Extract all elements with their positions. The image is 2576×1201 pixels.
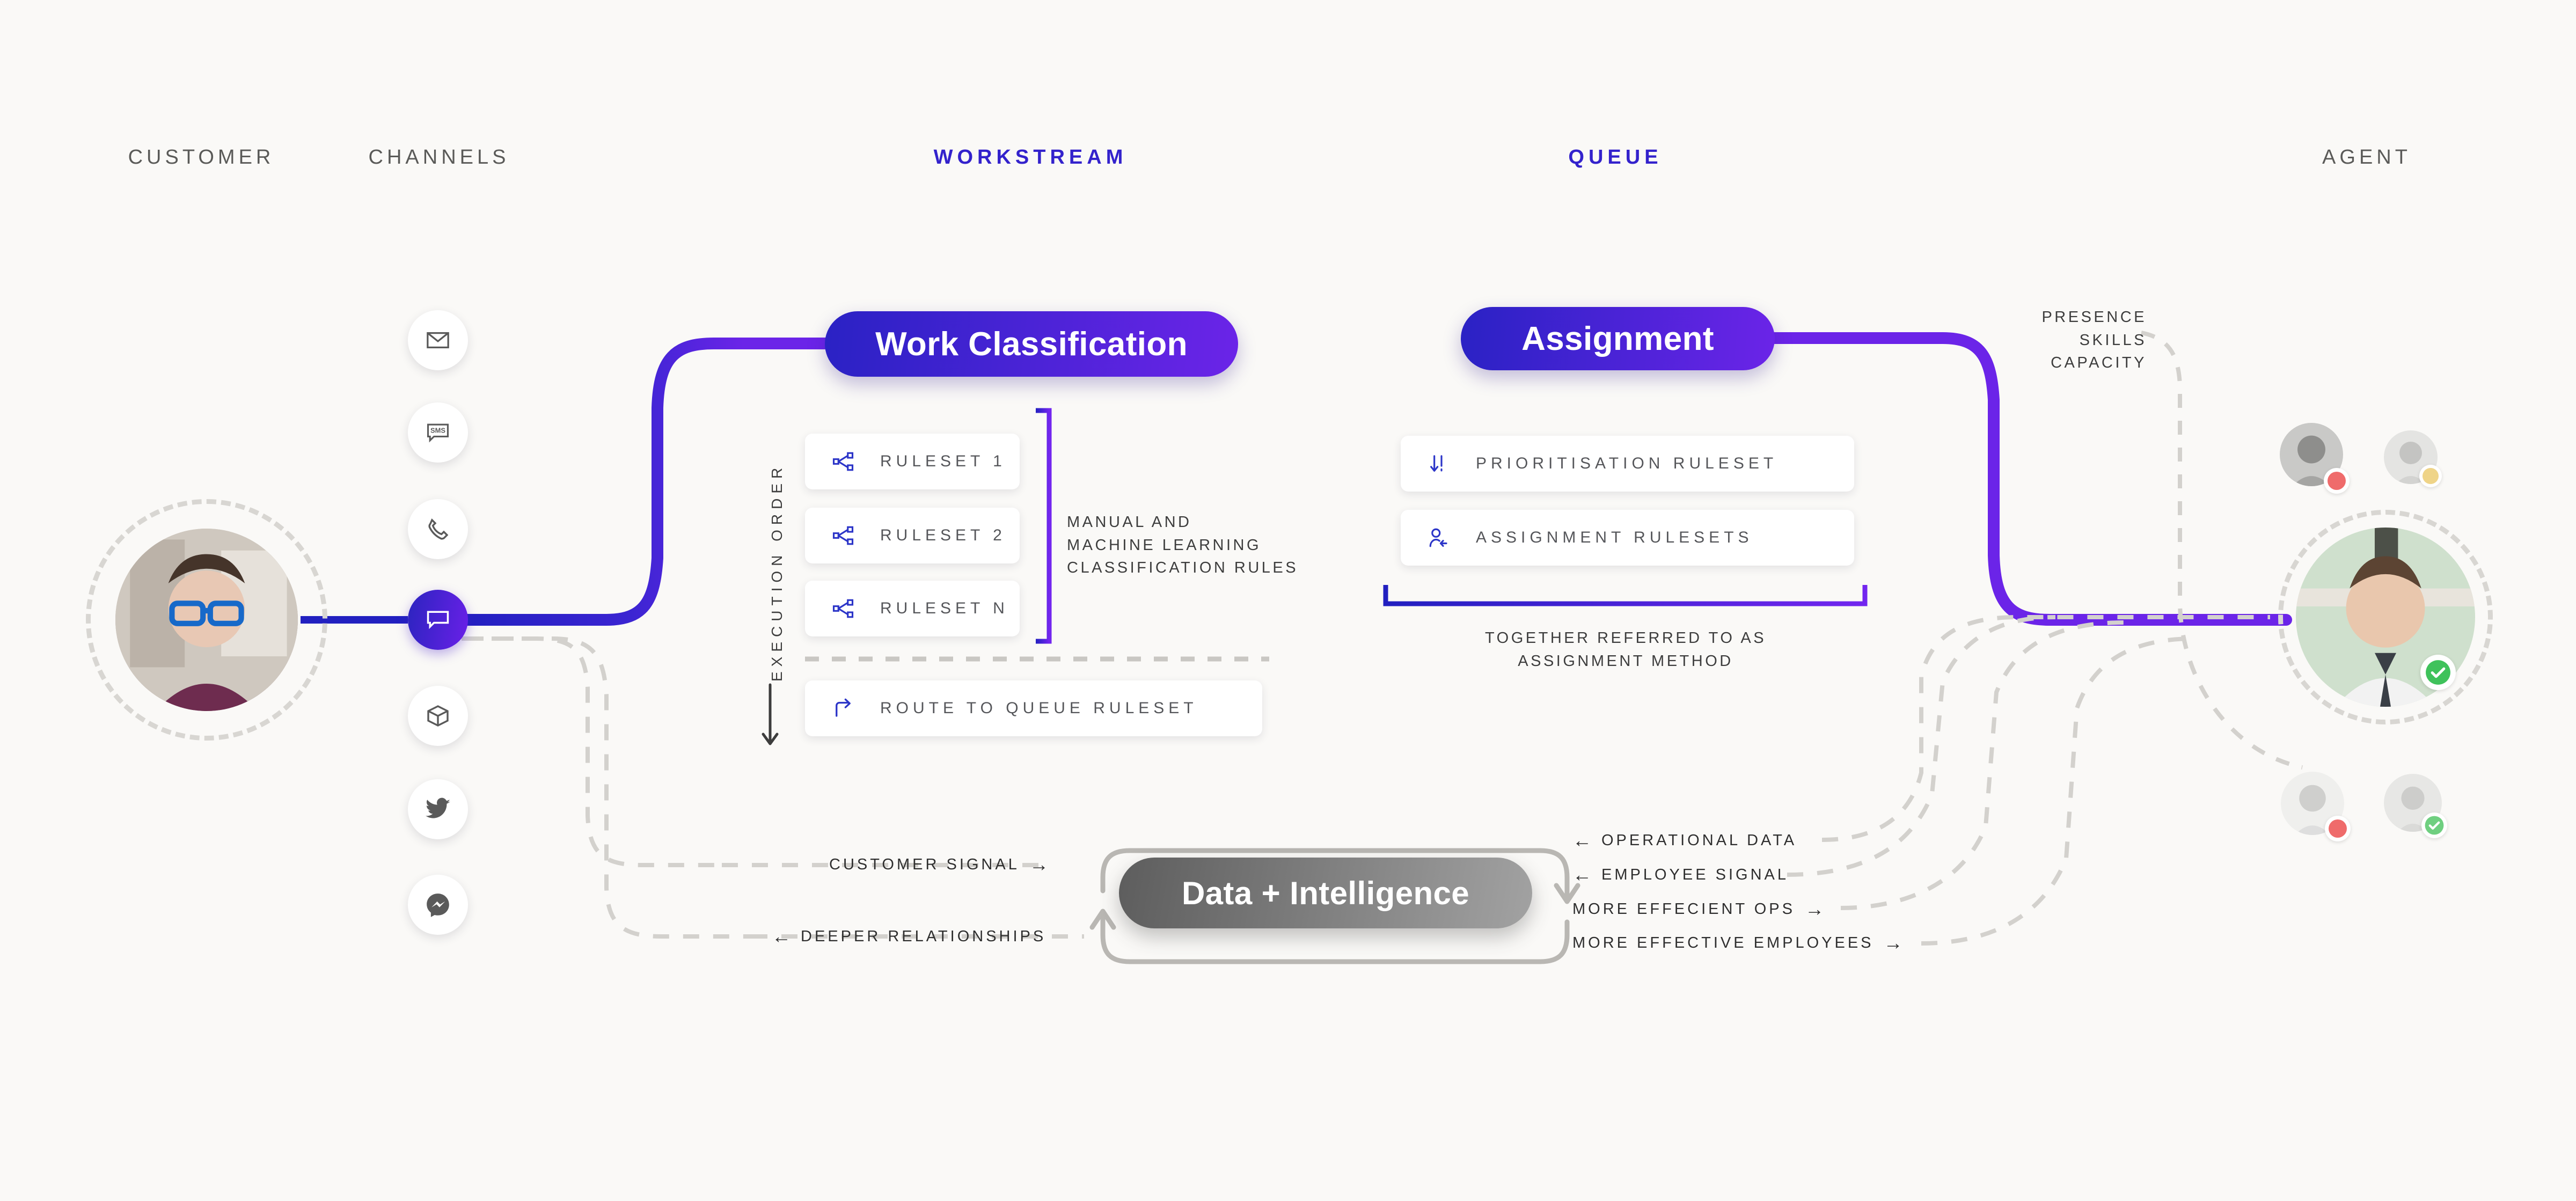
stage-pill-data-intelligence[interactable]: Data + Intelligence bbox=[1119, 858, 1532, 928]
arrow-left-icon: ← bbox=[1572, 831, 1592, 850]
route-to-queue-ruleset-card[interactable]: ROUTE TO QUEUE RULESET bbox=[805, 680, 1262, 736]
status-dot-busy bbox=[2329, 819, 2347, 838]
feedback-operational-data: ← OPERATIONAL DATA bbox=[1572, 831, 1797, 850]
column-header-workstream: WORKSTREAM bbox=[934, 146, 1128, 169]
arrow-right-icon: → bbox=[1029, 855, 1049, 874]
feedback-operational-data-label: OPERATIONAL DATA bbox=[1601, 832, 1797, 850]
channel-email[interactable] bbox=[408, 310, 468, 370]
feedback-employee-signal-label: EMPLOYEE SIGNAL bbox=[1601, 866, 1789, 884]
column-header-queue: QUEUE bbox=[1568, 146, 1662, 169]
channel-sms[interactable]: SMS bbox=[408, 402, 468, 463]
column-header-customer: CUSTOMER bbox=[128, 146, 275, 169]
agent-avatar-bottom-left-status-badge bbox=[2325, 816, 2351, 841]
check-circle-icon bbox=[2424, 815, 2445, 836]
package-icon bbox=[425, 703, 451, 729]
prioritisation-ruleset-label: PRIORITISATION RULESET bbox=[1476, 455, 1777, 473]
feedback-more-efficient-ops-label: MORE EFFECIENT OPS bbox=[1572, 900, 1795, 918]
assignment-rulesets-label: ASSIGNMENT RULESETS bbox=[1476, 529, 1753, 547]
assignment-method-note: TOGETHER REFERRED TO AS ASSIGNMENT METHO… bbox=[1485, 627, 1766, 672]
share-nodes-icon bbox=[826, 597, 860, 620]
arrow-right-icon: → bbox=[1884, 933, 1903, 953]
share-nodes-icon bbox=[826, 450, 860, 473]
share-nodes-icon bbox=[826, 524, 860, 547]
arrow-left-icon: ← bbox=[1572, 865, 1592, 884]
svg-text:SMS: SMS bbox=[430, 427, 445, 435]
feedback-more-effective-employees-label: MORE EFFECTIVE EMPLOYEES bbox=[1572, 934, 1874, 952]
feedback-customer-signal-label: CUSTOMER SIGNAL bbox=[829, 856, 1020, 874]
column-header-channels: CHANNELS bbox=[369, 146, 510, 169]
stage-pill-work-classification-label: Work Classification bbox=[875, 325, 1188, 363]
agent-avatar-top-left-status-badge bbox=[2324, 468, 2350, 494]
twitter-icon bbox=[425, 796, 451, 823]
arrow-right-icon: → bbox=[1805, 899, 1824, 919]
agent-avatar-top-right-status-badge bbox=[2419, 465, 2442, 487]
prioritisation-ruleset-card[interactable]: PRIORITISATION RULESET bbox=[1401, 436, 1854, 492]
check-circle-icon bbox=[2425, 659, 2451, 686]
channel-voice[interactable] bbox=[408, 499, 468, 559]
feedback-more-effective-employees: MORE EFFECTIVE EMPLOYEES → bbox=[1572, 933, 1903, 953]
execution-order-arrow-icon bbox=[754, 682, 786, 751]
chat-icon bbox=[425, 607, 451, 633]
customer-avatar-photo bbox=[115, 529, 298, 711]
channel-twitter[interactable] bbox=[408, 779, 468, 839]
stage-pill-data-intelligence-label: Data + Intelligence bbox=[1182, 875, 1469, 912]
column-header-agent: AGENT bbox=[2322, 146, 2411, 169]
classification-rules-note: MANUAL AND MACHINE LEARNING CLASSIFICATI… bbox=[1067, 511, 1298, 580]
stage-pill-assignment-label: Assignment bbox=[1521, 320, 1714, 358]
messenger-icon bbox=[425, 891, 451, 918]
feedback-customer-signal: CUSTOMER SIGNAL → bbox=[829, 855, 1049, 874]
arrow-left-icon: ← bbox=[772, 927, 791, 946]
channel-chat[interactable] bbox=[408, 590, 468, 650]
status-dot-away bbox=[2423, 468, 2439, 484]
route-to-queue-ruleset-label: ROUTE TO QUEUE RULESET bbox=[880, 699, 1198, 717]
status-dot-busy bbox=[2328, 472, 2346, 490]
feedback-employee-signal: ← EMPLOYEE SIGNAL bbox=[1572, 865, 1789, 884]
ruleset-card-2[interactable]: RULESET 2 bbox=[805, 508, 1020, 563]
feedback-more-efficient-ops: MORE EFFECIENT OPS → bbox=[1572, 899, 1824, 919]
flow-connectors bbox=[0, 0, 2576, 1201]
agent-avatar-primary-status-badge bbox=[2420, 655, 2456, 690]
ruleset-card-1[interactable]: RULESET 1 bbox=[805, 434, 1020, 489]
ruleset-card-2-label: RULESET 2 bbox=[880, 526, 1006, 545]
ruleset-card-n[interactable]: RULESET N bbox=[805, 581, 1020, 636]
agent-avatar-bottom-right-status-badge bbox=[2421, 812, 2447, 838]
user-assign-icon bbox=[1422, 526, 1455, 549]
sms-icon: SMS bbox=[425, 420, 451, 445]
envelope-icon bbox=[426, 328, 450, 353]
agent-attributes-note: PRESENCE SKILLS CAPACITY bbox=[1986, 306, 2147, 375]
route-arrow-icon bbox=[826, 697, 860, 720]
stage-pill-assignment[interactable]: Assignment bbox=[1461, 307, 1775, 370]
stage-pill-work-classification[interactable]: Work Classification bbox=[825, 311, 1238, 377]
ruleset-card-1-label: RULESET 1 bbox=[880, 452, 1006, 471]
feedback-deeper-relationships: ← DEEPER RELATIONSHIPS bbox=[772, 927, 1046, 946]
channel-messenger[interactable] bbox=[408, 875, 468, 935]
diagram-canvas: CUSTOMER CHANNELS WORKSTREAM QUEUE AGENT… bbox=[0, 0, 2576, 1201]
execution-order-label: EXECUTION ORDER bbox=[769, 463, 786, 682]
customer-avatar bbox=[115, 529, 298, 711]
feedback-deeper-relationships-label: DEEPER RELATIONSHIPS bbox=[801, 928, 1046, 946]
sort-descending-icon bbox=[1422, 453, 1455, 474]
ruleset-card-n-label: RULESET N bbox=[880, 599, 1009, 618]
channel-package[interactable] bbox=[408, 686, 468, 746]
assignment-rulesets-card[interactable]: ASSIGNMENT RULESETS bbox=[1401, 510, 1854, 566]
phone-icon bbox=[425, 516, 451, 542]
